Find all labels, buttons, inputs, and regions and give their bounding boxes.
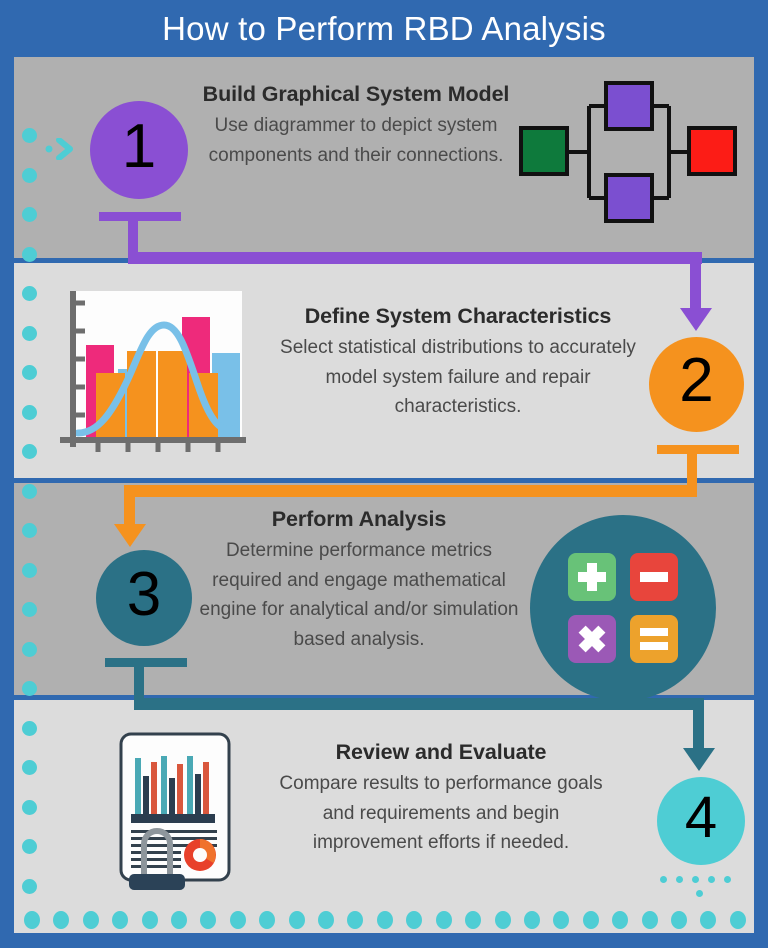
decor-dot — [22, 286, 37, 301]
math-operator-plus — [568, 553, 616, 601]
decor-dot — [22, 207, 37, 222]
connector-2-rail — [124, 485, 697, 497]
mini-dot-row — [660, 876, 731, 883]
bottom-dot-row — [24, 911, 746, 929]
connector-1-rail — [128, 252, 702, 264]
chevron-right-icon — [45, 138, 79, 160]
step-number-circle-3: 3 — [96, 550, 192, 646]
step-number-2: 2 — [679, 345, 713, 416]
decor-dot — [465, 911, 481, 929]
decor-dot — [583, 911, 599, 929]
report-clipboard-illustration — [113, 728, 237, 896]
decor-dot — [53, 911, 69, 929]
rbd-parallel-top-block — [606, 83, 652, 129]
decor-dot — [83, 911, 99, 929]
step-text-4: Review and Evaluate Compare results to p… — [278, 738, 604, 858]
math-operator-minus — [630, 553, 678, 601]
decor-dot — [22, 247, 37, 262]
decor-dot — [22, 523, 37, 538]
decor-dot — [436, 911, 452, 929]
decor-dot — [524, 911, 540, 929]
step-body-2: Select statistical distributions to accu… — [262, 333, 654, 422]
connector-3-drop — [693, 698, 704, 754]
decor-dot — [22, 563, 37, 578]
decor-dot — [22, 484, 37, 499]
step-text-3: Perform Analysis Determine performance m… — [194, 505, 524, 654]
step-body-4: Compare results to performance goals and… — [278, 769, 604, 858]
rbd-input-block — [521, 128, 567, 174]
decor-dot — [696, 890, 703, 897]
statistical-distribution-chart-illustration — [52, 287, 252, 465]
decor-dot — [200, 911, 216, 929]
step-text-1: Build Graphical System Model Use diagram… — [196, 80, 516, 170]
rbd-output-block — [689, 128, 735, 174]
decor-dot — [22, 681, 37, 696]
decor-dot — [259, 911, 275, 929]
connector-2-arrowhead — [114, 524, 146, 547]
decor-dot — [612, 911, 628, 929]
decor-dot — [495, 911, 511, 929]
math-operators-illustration — [530, 515, 716, 701]
decor-dot — [22, 405, 37, 420]
infographic-root: How to Perform RBD Analysis 1 Build — [0, 0, 768, 948]
report-donut-chart — [184, 839, 216, 871]
left-dot-column — [22, 128, 48, 918]
step-title-4: Review and Evaluate — [278, 738, 604, 767]
step-text-2: Define System Characteristics Select sta… — [262, 302, 654, 422]
step-title-2: Define System Characteristics — [262, 302, 654, 331]
decor-dot — [724, 876, 731, 883]
decor-dot — [22, 721, 37, 736]
step-body-1: Use diagrammer to depict system componen… — [196, 111, 516, 170]
connector-3-tbar — [105, 658, 187, 667]
decor-dot — [24, 911, 40, 929]
decor-dot — [660, 876, 667, 883]
decor-dot — [377, 911, 393, 929]
rbd-parallel-bottom-block — [606, 175, 652, 221]
math-icon-circle — [530, 515, 716, 701]
step-number-1: 1 — [122, 111, 156, 182]
connector-2-tbar — [657, 445, 739, 454]
decor-dot — [22, 642, 37, 657]
step-body-3: Determine performance metrics required a… — [194, 536, 524, 654]
math-operator-equals — [630, 615, 678, 663]
connector-1-tbar — [99, 212, 181, 221]
step-number-3: 3 — [127, 559, 161, 630]
step-title-1: Build Graphical System Model — [196, 80, 516, 109]
decor-dot — [642, 911, 658, 929]
decor-dot — [692, 876, 699, 883]
decor-dot — [22, 839, 37, 854]
decor-dot — [406, 911, 422, 929]
step-number-circle-2: 2 — [649, 337, 744, 432]
decor-dot — [230, 911, 246, 929]
decor-dot — [289, 911, 305, 929]
decor-dot — [700, 911, 716, 929]
connector-3-rail — [134, 698, 704, 710]
step-number-circle-4: 4 — [657, 777, 745, 865]
decor-dot — [112, 911, 128, 929]
decor-dot — [676, 876, 683, 883]
decor-dot — [22, 326, 37, 341]
decor-dot — [22, 365, 37, 380]
step-number-4: 4 — [685, 784, 717, 851]
decor-dot — [22, 128, 37, 143]
step-title-3: Perform Analysis — [194, 505, 524, 534]
decor-dot — [708, 876, 715, 883]
decor-dot — [22, 800, 37, 815]
reliability-block-diagram-illustration — [505, 80, 745, 225]
connector-1-drop — [690, 252, 701, 314]
decor-dot — [22, 168, 37, 183]
decor-dot — [318, 911, 334, 929]
decor-dot — [347, 911, 363, 929]
decor-dot — [22, 879, 37, 894]
decor-dot — [22, 444, 37, 459]
decor-dot — [671, 911, 687, 929]
connector-3-arrowhead — [683, 748, 715, 771]
step-number-circle-1: 1 — [90, 101, 188, 199]
decor-dot — [142, 911, 158, 929]
connector-1-arrowhead — [680, 308, 712, 331]
decor-dot — [171, 911, 187, 929]
page-title: How to Perform RBD Analysis — [0, 6, 768, 52]
decor-dot — [22, 760, 37, 775]
decor-dot — [22, 602, 37, 617]
decor-dot — [730, 911, 746, 929]
math-operator-multiply — [568, 615, 616, 663]
decor-dot — [553, 911, 569, 929]
